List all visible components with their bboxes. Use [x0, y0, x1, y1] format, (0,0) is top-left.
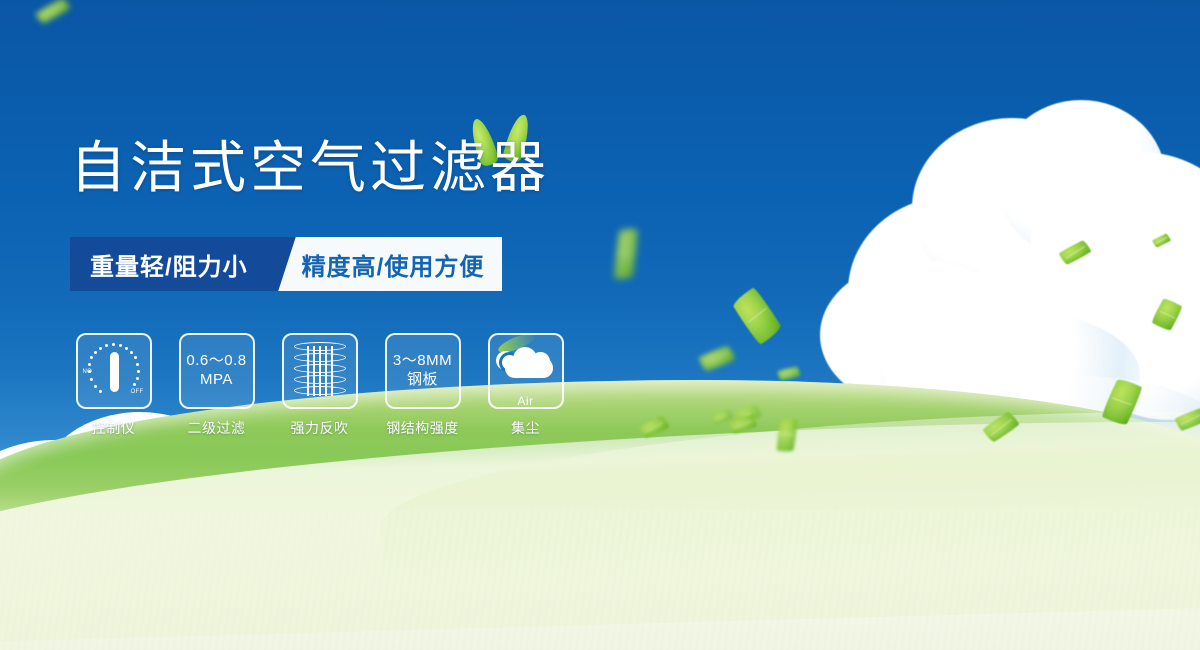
grass-sheen: [0, 510, 1200, 650]
gauge-off-label: OFF: [131, 389, 144, 395]
feature-icon-box: 0.6～0.8 MPA: [179, 333, 255, 409]
feature-item-steel[interactable]: 3～8MM 钢板 钢结构强度: [381, 333, 464, 438]
feature-label: 钢结构强度: [386, 418, 459, 438]
stacked-filter-icon: [294, 342, 346, 400]
gauge-on-label: NO: [83, 369, 93, 375]
feature-list: NO OFF 控制仪 0.6～0.8 MPA 二级过滤: [72, 333, 567, 438]
feature-icon-box: [282, 333, 358, 409]
feature-item-dust[interactable]: Air 集尘: [484, 333, 567, 438]
subtitle-right-segment: 精度高/使用方便: [272, 237, 503, 291]
cloud-body: [505, 356, 553, 378]
feature-label: 控制仪: [92, 418, 136, 438]
gauge-needle: [110, 352, 119, 392]
cumulus-cloud-large: [820, 100, 1200, 430]
feature-icon-box: Air: [488, 333, 564, 409]
cloud-air-icon: Air: [495, 343, 557, 393]
hero-banner: 自洁式空气过滤器 重量轻/阻力小 精度高/使用方便: [0, 0, 1200, 650]
gauge-control-icon: NO OFF: [83, 342, 145, 400]
feature-label: 集尘: [511, 418, 540, 438]
feature-label: 二级过滤: [188, 418, 246, 438]
air-label: Air: [495, 394, 557, 408]
feature-icon-box: 3～8MM 钢板: [385, 333, 461, 409]
feature-item-pressure[interactable]: 0.6～0.8 MPA 二级过滤: [175, 333, 258, 438]
feature-item-blowback[interactable]: 强力反吹: [278, 333, 361, 438]
subtitle-left-segment: 重量轻/阻力小: [70, 237, 270, 291]
pressure-text-icon: 0.6～0.8 MPA: [186, 352, 246, 390]
feature-label: 强力反吹: [291, 418, 349, 438]
feature-icon-box: NO OFF: [76, 333, 152, 409]
feature-item-control[interactable]: NO OFF 控制仪: [72, 333, 155, 438]
subtitle-bar: 重量轻/阻力小 精度高/使用方便: [70, 237, 502, 291]
page-title: 自洁式空气过滤器: [70, 140, 550, 196]
steel-plate-text-icon: 3～8MM 钢板: [393, 352, 452, 390]
